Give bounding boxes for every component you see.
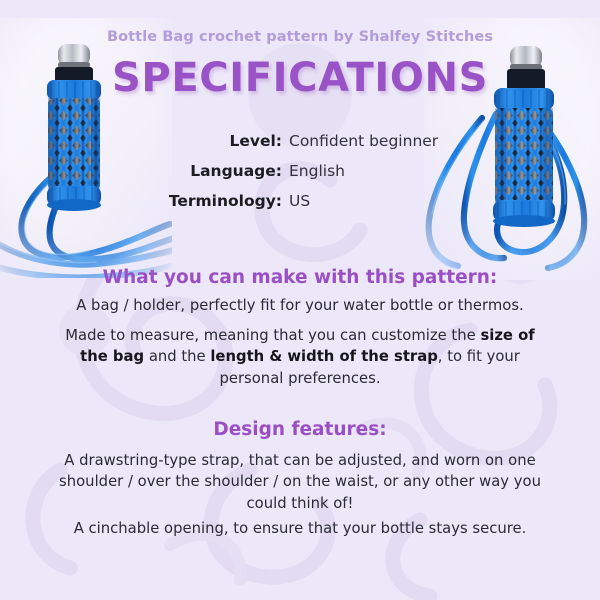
paragraph-made-to-measure: Made to measure, meaning that you can cu… — [50, 325, 550, 389]
spec-label-language: Language: — [0, 162, 289, 180]
spec-value-level: Confident beginner — [289, 132, 438, 150]
spec-row-level: Level: Confident beginner — [0, 132, 600, 150]
page-title: SPECIFICATIONS — [0, 55, 600, 101]
poster-canvas: Bottle Bag crochet pattern by Shalfey St… — [0, 0, 600, 600]
paragraph-drawstring-strap: A drawstring-type strap, that can be adj… — [55, 450, 545, 514]
section-heading-design-features: Design features: — [0, 419, 600, 440]
poster-subtitle: Bottle Bag crochet pattern by Shalfey St… — [0, 29, 600, 45]
section-heading-what-you-can-make: What you can make with this pattern: — [0, 267, 600, 288]
spec-row-language: Language: English — [0, 162, 600, 180]
specifications-list: Level: Confident beginner Language: Engl… — [0, 132, 600, 222]
spec-label-terminology: Terminology: — [0, 192, 289, 210]
spec-row-terminology: Terminology: US — [0, 192, 600, 210]
spec-value-language: English — [289, 162, 345, 180]
spec-label-level: Level: — [0, 132, 289, 150]
paragraph-bag-holder: A bag / holder, perfectly fit for your w… — [50, 295, 550, 316]
spec-value-terminology: US — [289, 192, 310, 210]
paragraph-cinchable-opening: A cinchable opening, to ensure that your… — [50, 518, 550, 539]
